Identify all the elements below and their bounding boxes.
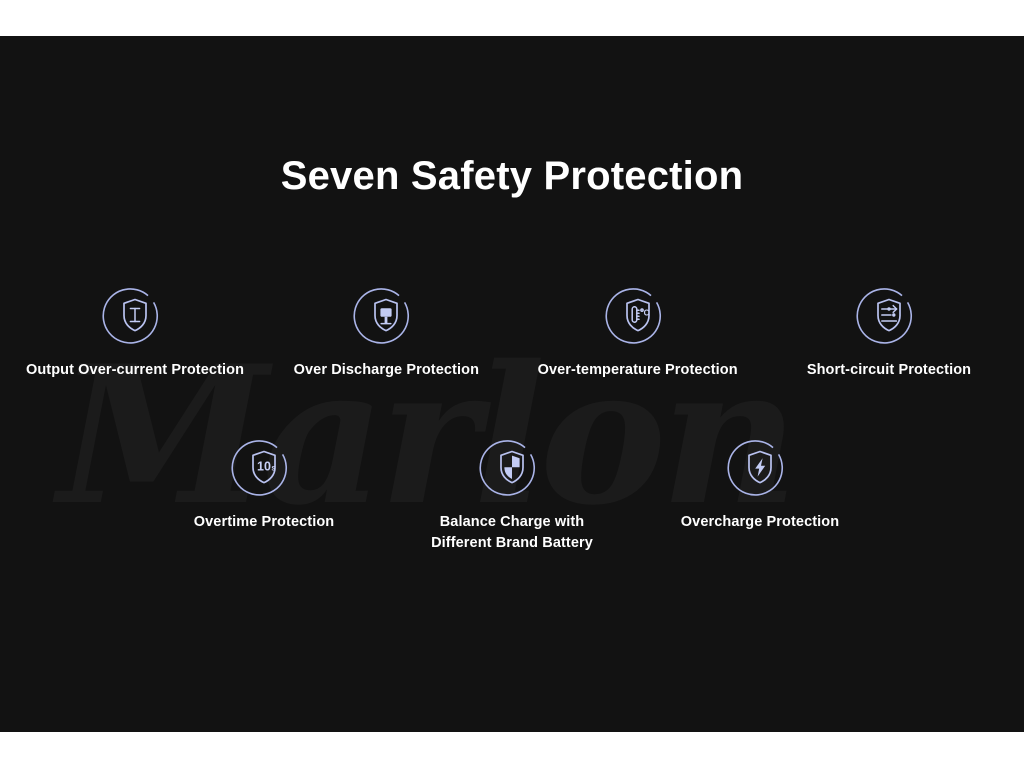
shield-plug-icon: [355, 284, 417, 346]
svg-text:10: 10: [257, 460, 271, 474]
shield-timer-icon: 10 s: [233, 436, 295, 498]
feature-item-balance-charge[interactable]: Balance Charge with Different Brand Batt…: [388, 436, 636, 554]
dark-content-panel: Marlon Seven Safety Protection Output Ov…: [0, 36, 1024, 732]
slide-canvas: Marlon Seven Safety Protection Output Ov…: [0, 0, 1024, 768]
page-title: Seven Safety Protection: [0, 154, 1024, 199]
svg-text:C: C: [643, 309, 649, 318]
feature-label: Output Over-current Protection: [26, 360, 244, 381]
svg-text:s: s: [271, 464, 276, 473]
feature-item-over-discharge[interactable]: Over Discharge Protection: [261, 284, 511, 381]
shield-circuit-icon: [858, 284, 920, 346]
feature-item-output-over-current[interactable]: Output Over-current Protection: [10, 284, 260, 381]
shield-current-icon: [104, 284, 166, 346]
shield-bolt-icon: [729, 436, 791, 498]
feature-item-over-temperature[interactable]: C Over-temperature Protection: [513, 284, 763, 381]
feature-label: Over-temperature Protection: [538, 360, 738, 381]
feature-label: Short-circuit Protection: [807, 360, 971, 381]
feature-label: Balance Charge with Different Brand Batt…: [431, 512, 593, 554]
feature-row-bottom: 10 s Overtime Protection Balance Charg: [140, 436, 884, 554]
feature-item-overtime[interactable]: 10 s Overtime Protection: [140, 436, 388, 554]
feature-label: Overtime Protection: [194, 512, 335, 533]
feature-label: Over Discharge Protection: [294, 360, 479, 381]
shield-balance-icon: [481, 436, 543, 498]
feature-row-top: Output Over-current Protection Over Disc…: [10, 284, 1014, 381]
feature-label: Overcharge Protection: [681, 512, 839, 533]
feature-item-overcharge[interactable]: Overcharge Protection: [636, 436, 884, 554]
feature-item-short-circuit[interactable]: Short-circuit Protection: [764, 284, 1014, 381]
shield-thermometer-icon: C: [607, 284, 669, 346]
